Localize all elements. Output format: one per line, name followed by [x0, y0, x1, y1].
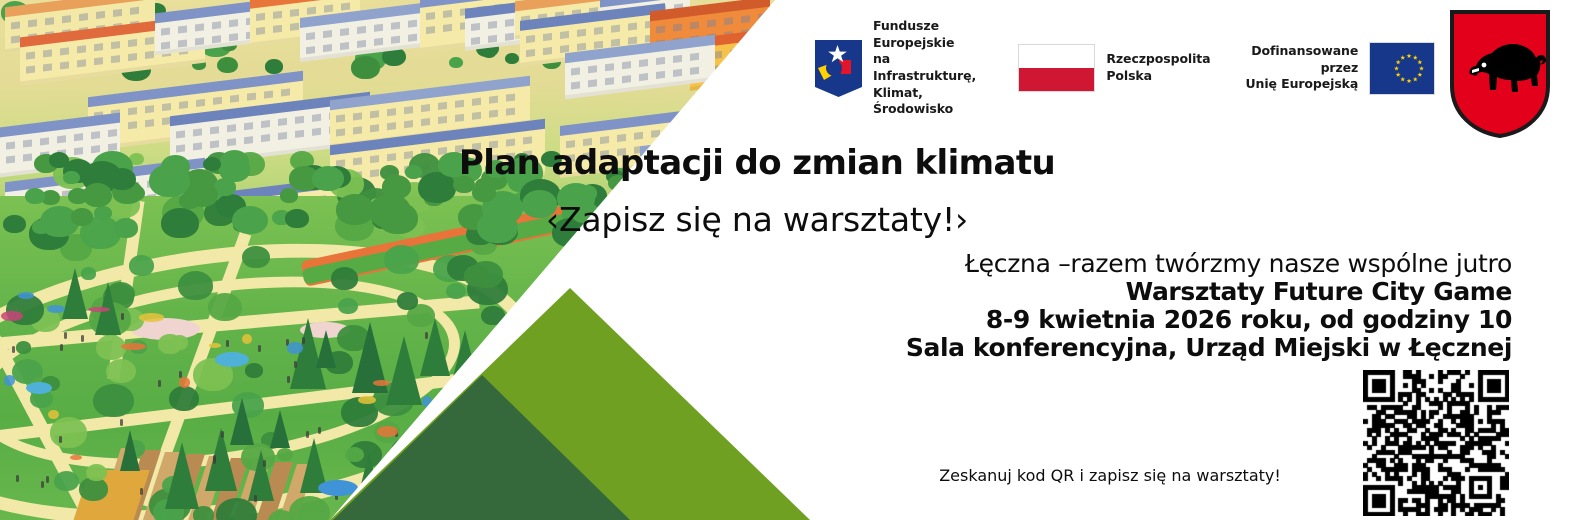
- fundusze-europejskie-emblem-icon: [815, 40, 862, 97]
- qr-caption: Zeskanuj kod QR i zapisz się na warsztat…: [880, 466, 1340, 485]
- page-title: Plan adaptacji do zmian klimatu: [0, 143, 1574, 183]
- event-location: Sala konferencyjna, Urząd Miejski w Łęcz…: [830, 334, 1512, 362]
- event-name: Warsztaty Future City Game: [830, 278, 1512, 306]
- eu-flag-icon: [1369, 42, 1435, 95]
- rzeczpospolita-polska-label: Rzeczpospolita Polska: [1106, 51, 1210, 84]
- rzeczpospolita-polska-logo: Rzeczpospolita Polska: [1018, 44, 1210, 92]
- eu-funding-logo-bar: Fundusze Europejskie na Infrastrukturę, …: [815, 28, 1435, 108]
- polish-flag-icon: [1018, 44, 1095, 92]
- event-date: 8-9 kwietnia 2026 roku, od godziny 10: [830, 306, 1512, 334]
- qr-code[interactable]: [1363, 370, 1509, 516]
- event-details: Łęczna –razem twórzmy nasze wspólne jutr…: [830, 250, 1512, 362]
- unia-europejska-logo: Dofinansowane przez Unię Europejską: [1237, 42, 1435, 95]
- subtitle: ‹Zapisz się na warsztaty!›: [0, 200, 1574, 239]
- event-tagline: Łęczna –razem twórzmy nasze wspólne jutr…: [830, 250, 1512, 278]
- unia-europejska-label: Dofinansowane przez Unię Europejską: [1237, 43, 1359, 93]
- fundusze-europejskie-label: Fundusze Europejskie na Infrastrukturę, …: [873, 18, 988, 118]
- fundusze-europejskie-logo: Fundusze Europejskie na Infrastrukturę, …: [815, 18, 988, 118]
- poster-canvas: Fundusze Europejskie na Infrastrukturę, …: [0, 0, 1574, 520]
- herb-leczna: [1448, 8, 1552, 140]
